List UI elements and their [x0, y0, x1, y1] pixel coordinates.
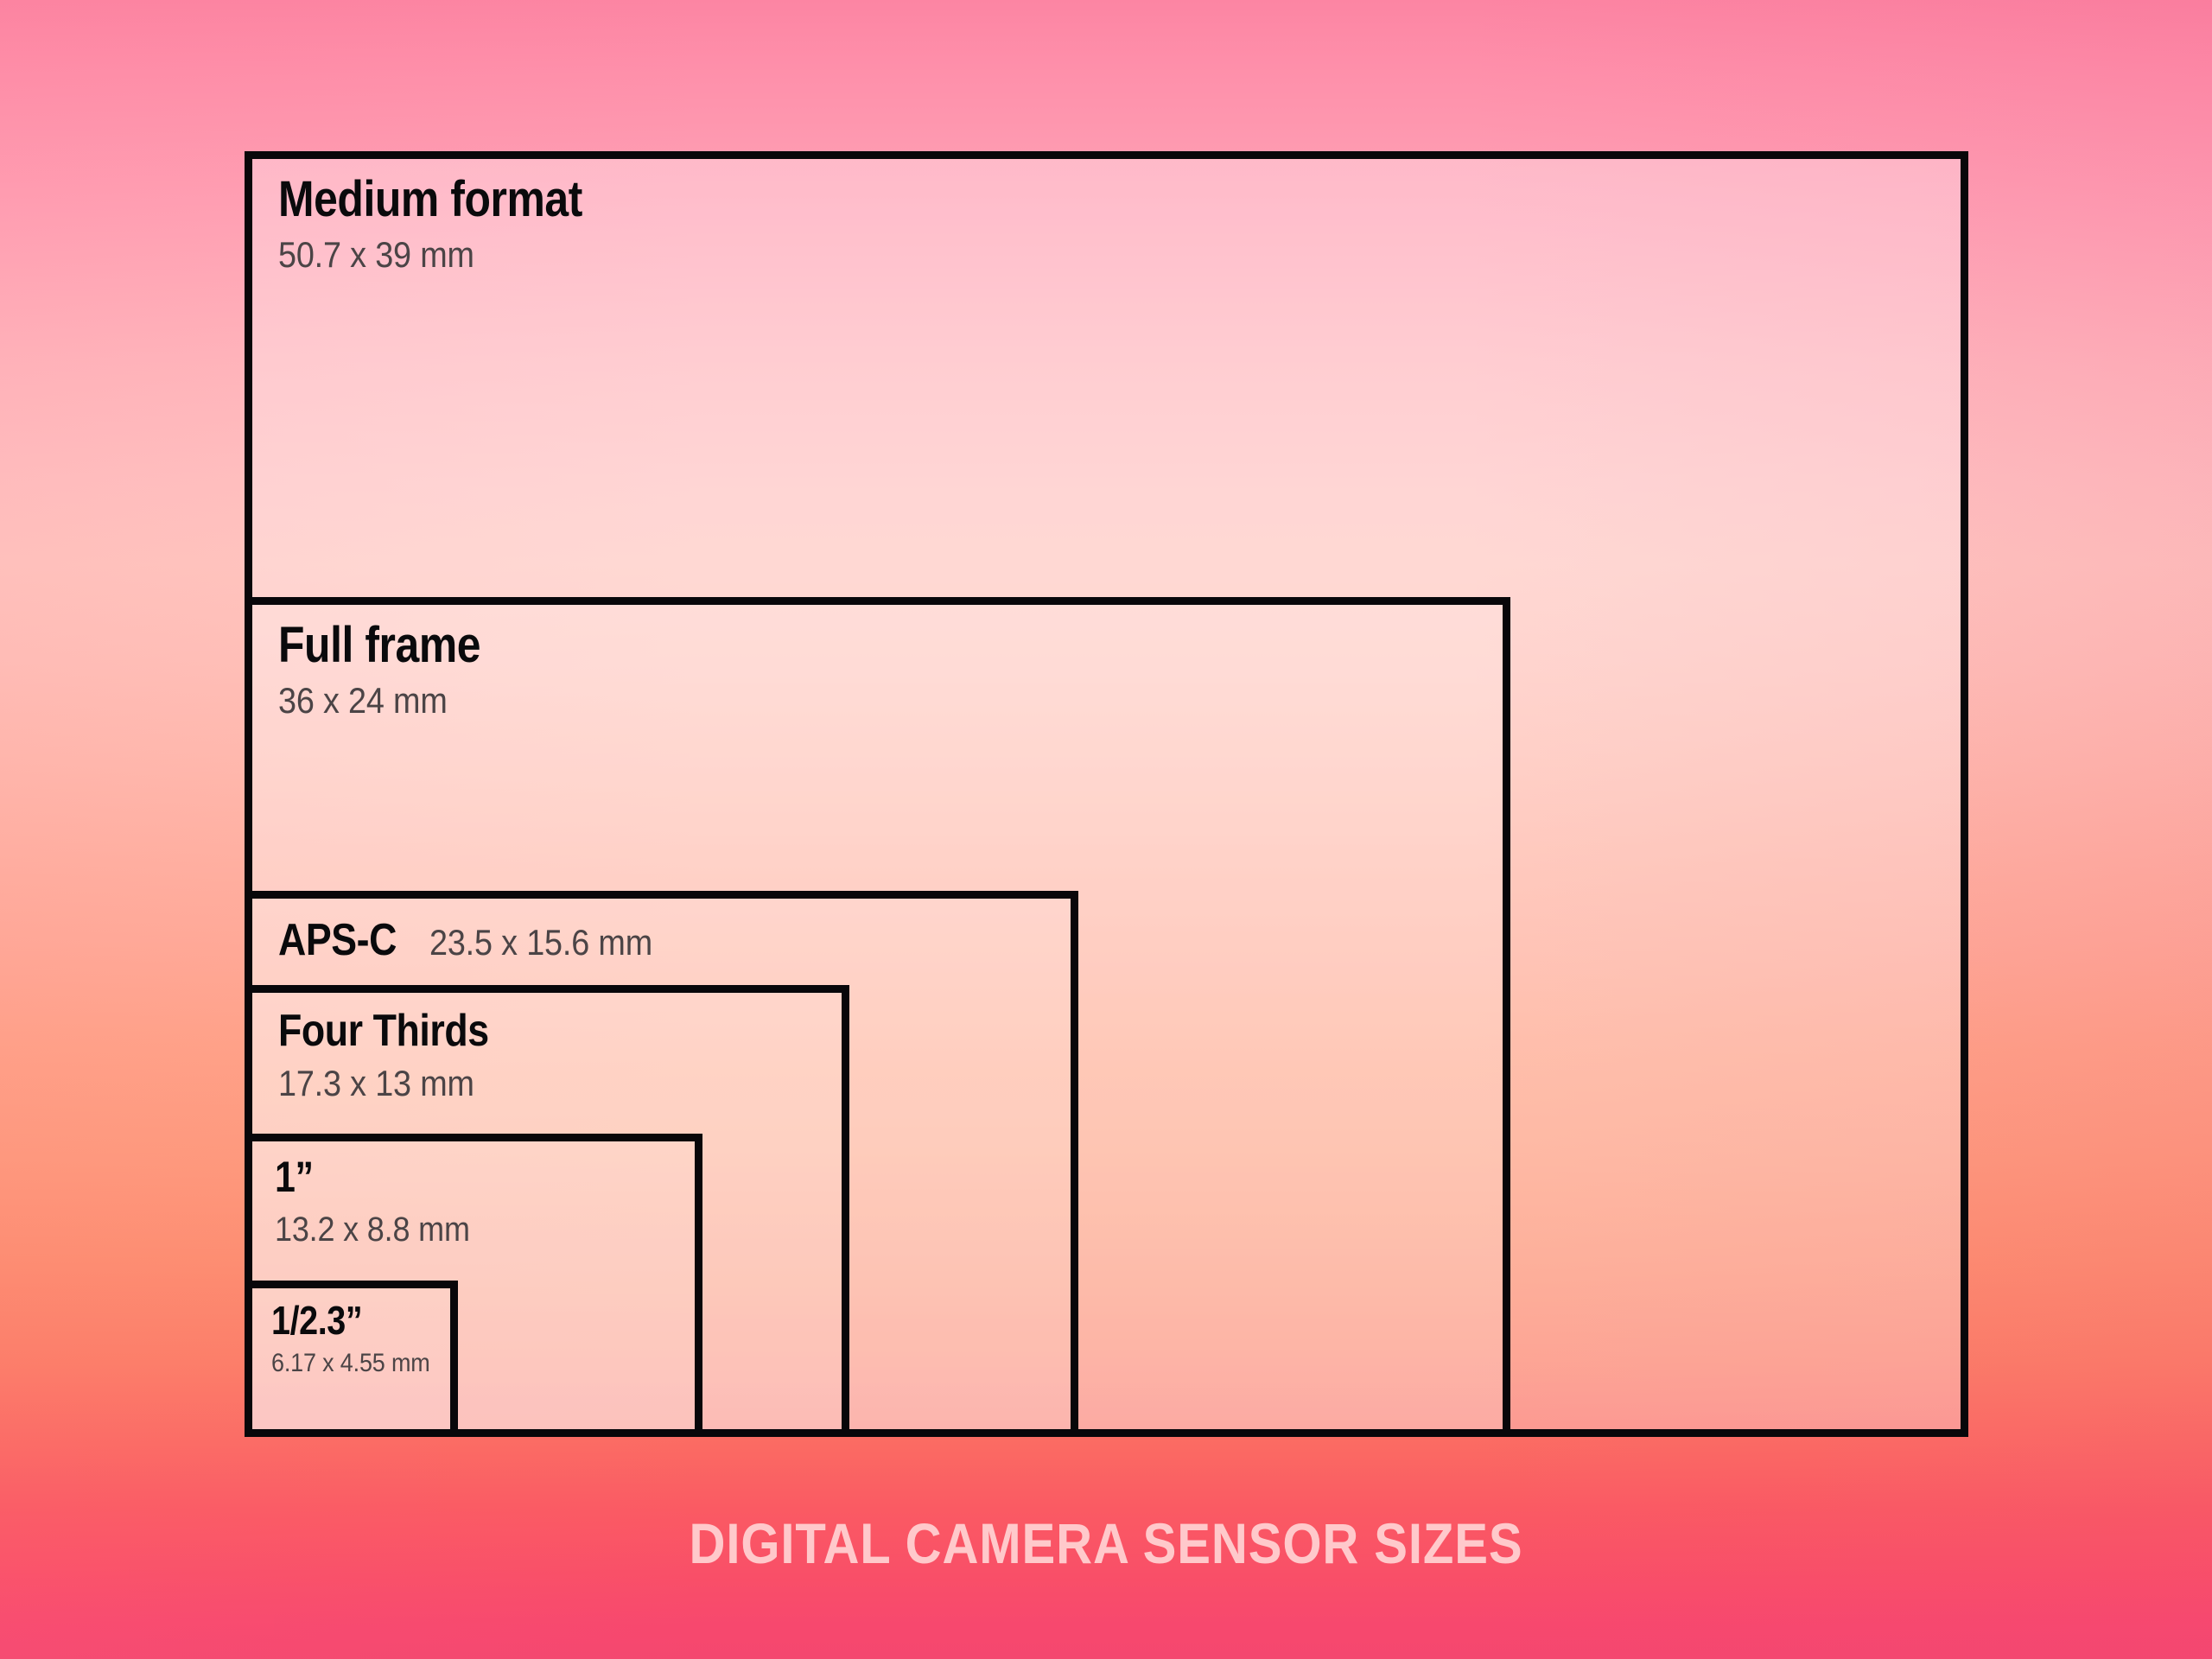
- sensor-label-one-over-2p3: 1/2.3” 6.17 x 4.55 mm: [271, 1300, 448, 1376]
- sensor-title-full-frame: Full frame: [278, 620, 480, 671]
- sensor-label-four-thirds: Four Thirds 17.3 x 13 mm: [278, 1008, 523, 1102]
- sensor-title-one-over-2p3: 1/2.3”: [271, 1300, 423, 1340]
- sensor-label-one-inch: 1” 13.2 x 8.8 mm: [275, 1155, 492, 1247]
- sensor-dimensions-aps-c: 23.5 x 15.6 mm: [429, 925, 652, 961]
- sensor-dimensions-one-over-2p3: 6.17 x 4.55 mm: [271, 1351, 430, 1376]
- sensor-title-one-inch: 1”: [275, 1155, 461, 1198]
- sensor-label-medium-format: Medium format 50.7 x 39 mm: [278, 175, 632, 273]
- sensor-size-diagram: Medium format 50.7 x 39 mm Full frame 36…: [0, 0, 2212, 1659]
- page-title: DIGITAL CAMERA SENSOR SIZES: [133, 1510, 2080, 1576]
- sensor-title-medium-format: Medium format: [278, 175, 582, 225]
- sensor-rect-one-over-2p3: 1/2.3” 6.17 x 4.55 mm: [245, 1281, 458, 1437]
- sensor-dimensions-medium-format: 50.7 x 39 mm: [278, 237, 596, 273]
- sensor-dimensions-one-inch: 13.2 x 8.8 mm: [275, 1212, 470, 1247]
- sensor-label-aps-c: APS-C 23.5 x 15.6 mm: [278, 918, 677, 963]
- sensor-title-aps-c: APS-C: [278, 918, 397, 963]
- sensor-dimensions-four-thirds: 17.3 x 13 mm: [278, 1065, 499, 1102]
- sensor-dimensions-full-frame: 36 x 24 mm: [278, 683, 490, 719]
- sensor-label-full-frame: Full frame 36 x 24 mm: [278, 620, 513, 719]
- sensor-title-four-thirds: Four Thirds: [278, 1008, 489, 1053]
